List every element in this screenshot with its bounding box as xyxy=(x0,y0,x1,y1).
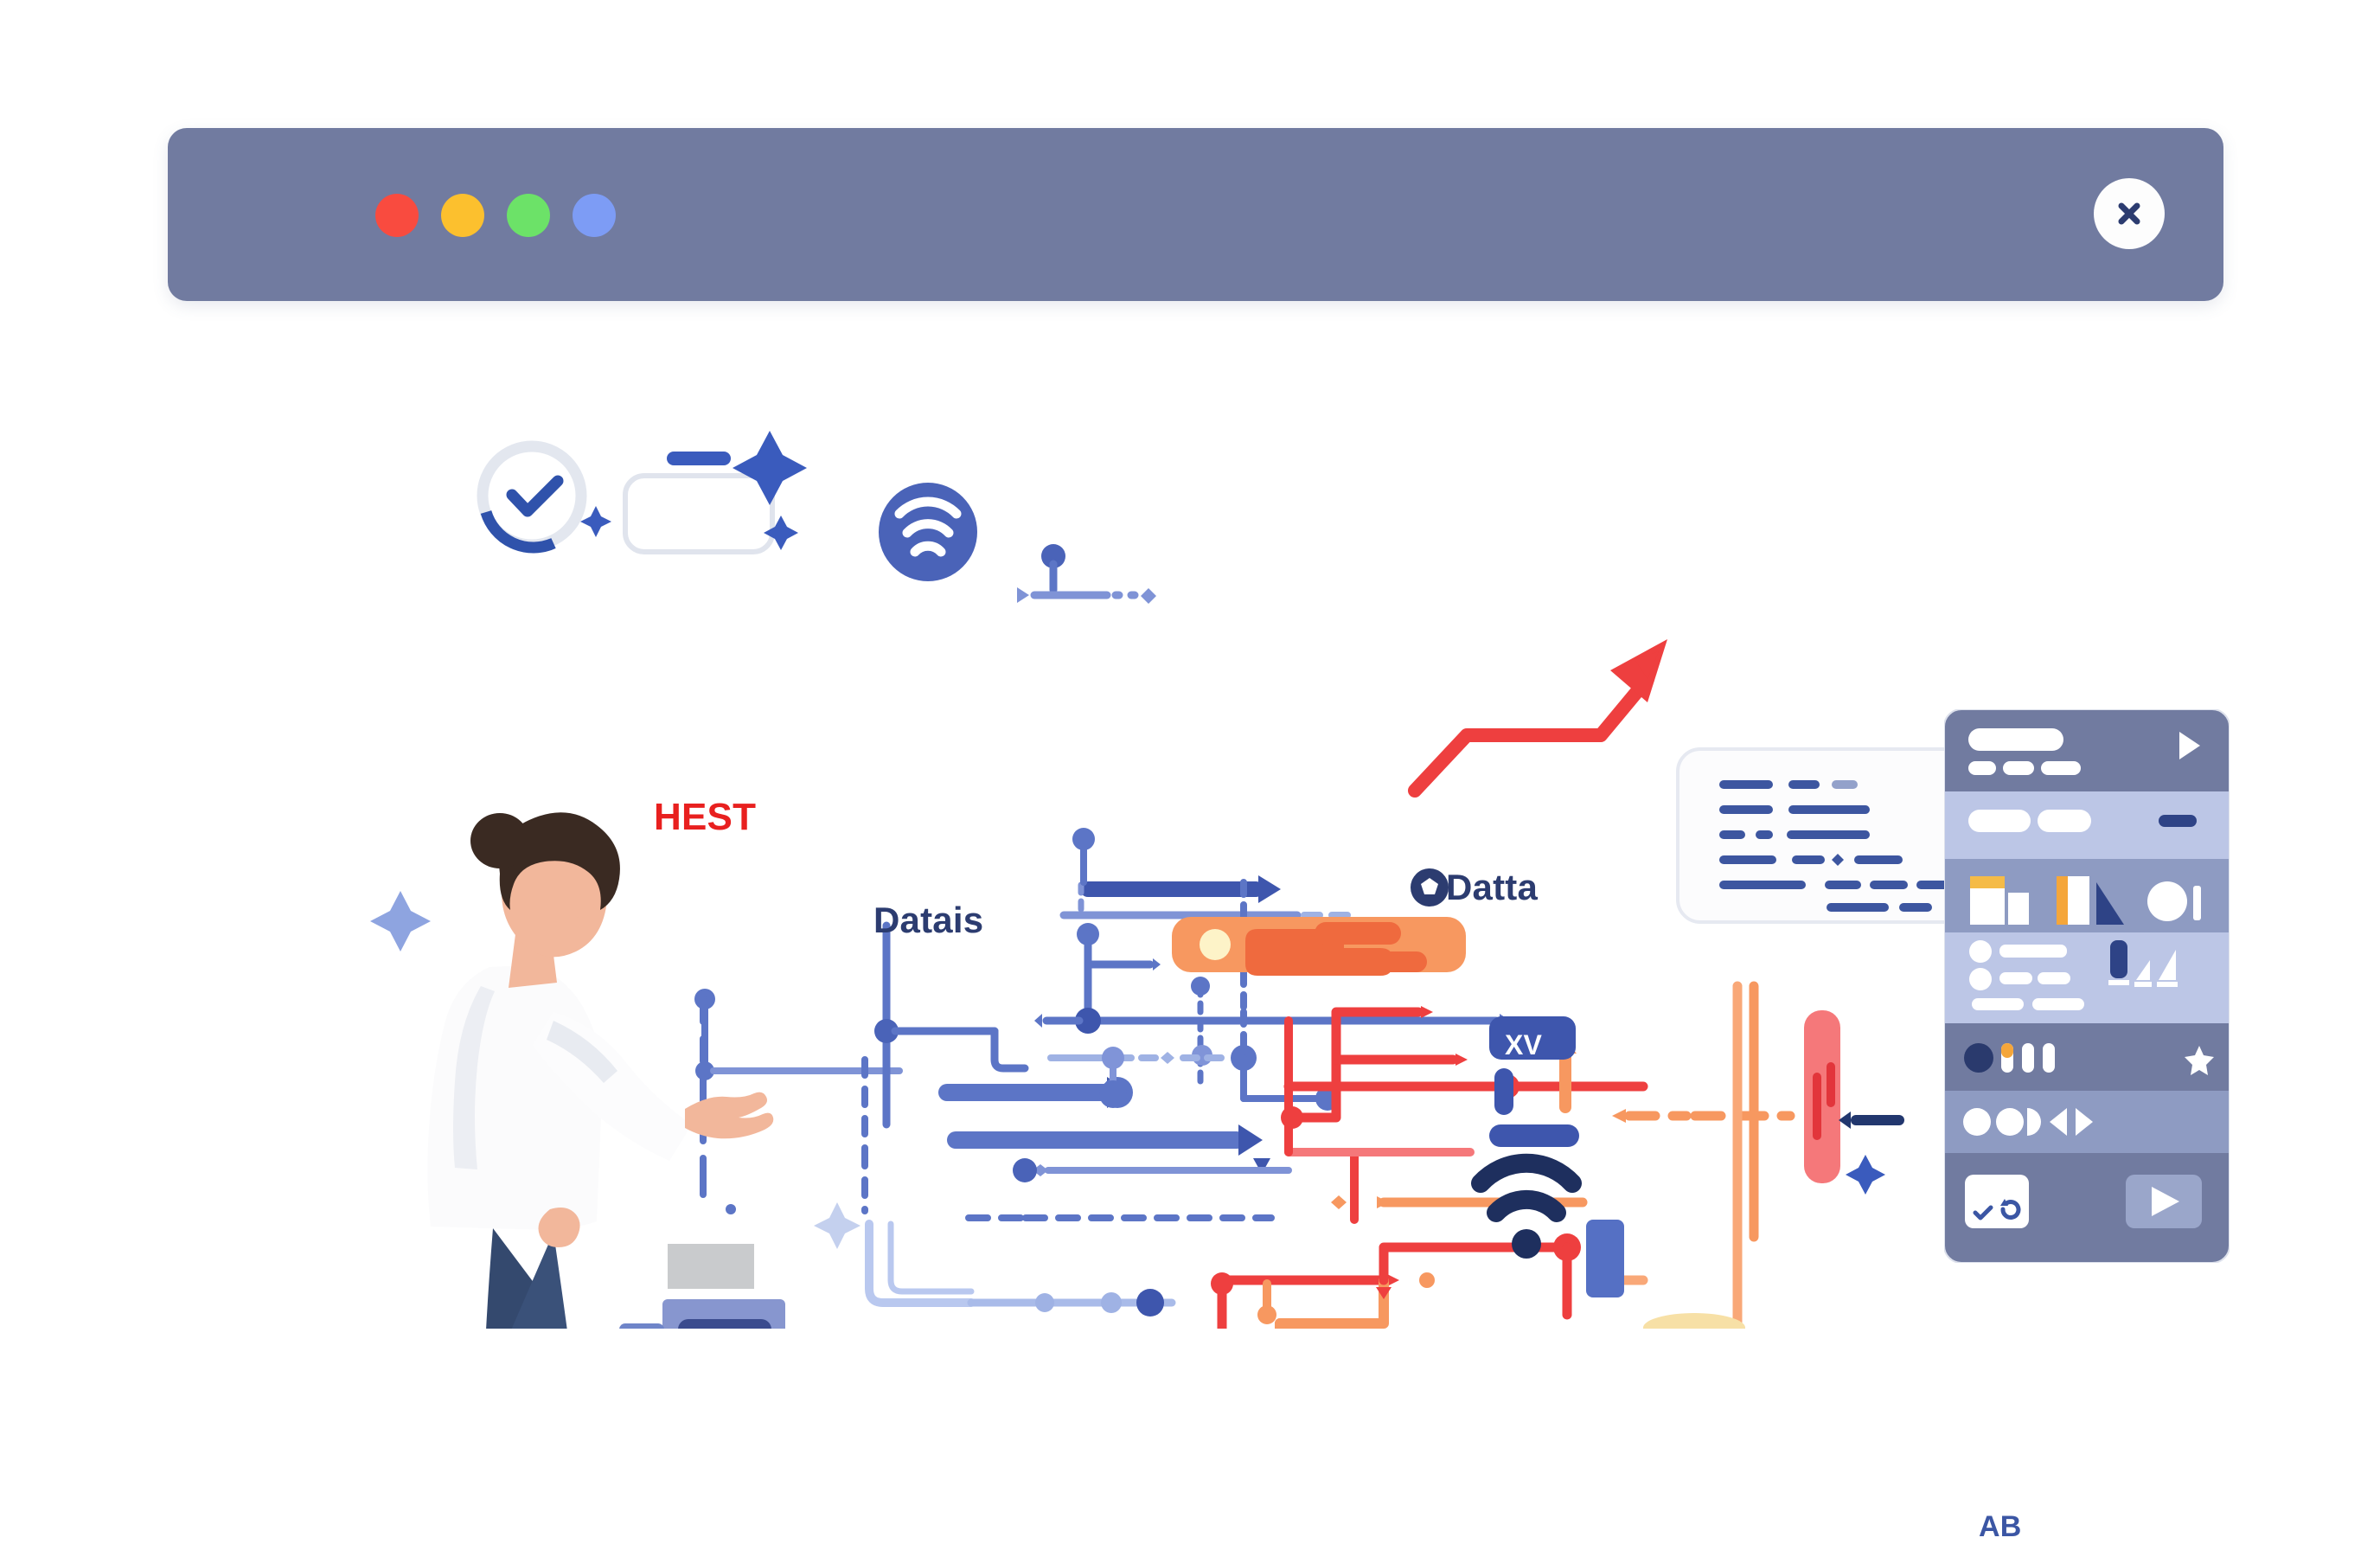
sparkle-icon-tiny xyxy=(580,506,611,537)
server-rack xyxy=(619,1244,785,1329)
left-arrow-navy xyxy=(1839,1112,1899,1129)
window-titlebar xyxy=(168,128,2223,301)
illustration-canvas: HEST Datais Datta XV CV CB AB xyxy=(0,329,2380,1329)
cv-label: CV xyxy=(709,1354,748,1386)
sparkle-icon-mid xyxy=(814,1202,861,1249)
red-orange-flow-network xyxy=(1012,926,1790,1329)
progress-ring-check xyxy=(483,446,581,548)
orange-bar-card xyxy=(1172,917,1466,976)
datais-node[interactable] xyxy=(879,483,977,581)
traffic-light-close[interactable] xyxy=(375,194,419,237)
sparkle-icon-right xyxy=(1846,1155,1885,1195)
xv-badge[interactable] xyxy=(1489,1016,1576,1060)
trend-arrow xyxy=(1415,639,1667,791)
sparkle-icon-left xyxy=(370,891,431,951)
close-button[interactable] xyxy=(2094,178,2165,249)
traffic-light-minimize[interactable] xyxy=(441,194,484,237)
close-x-icon xyxy=(2110,195,2148,233)
blue-block xyxy=(1586,1220,1624,1297)
traffic-light-maximize[interactable] xyxy=(507,194,550,237)
ab-label: AB xyxy=(1979,1510,2022,1544)
coral-capsule xyxy=(1804,1010,1840,1183)
check-icon xyxy=(512,481,558,511)
datta-node[interactable] xyxy=(1411,868,1449,907)
database-cylinder xyxy=(1643,1313,1745,1329)
traffic-light-extra[interactable] xyxy=(573,194,616,237)
dashboard-panel[interactable] xyxy=(1944,709,2230,1263)
cb-label: CB xyxy=(709,1432,750,1464)
